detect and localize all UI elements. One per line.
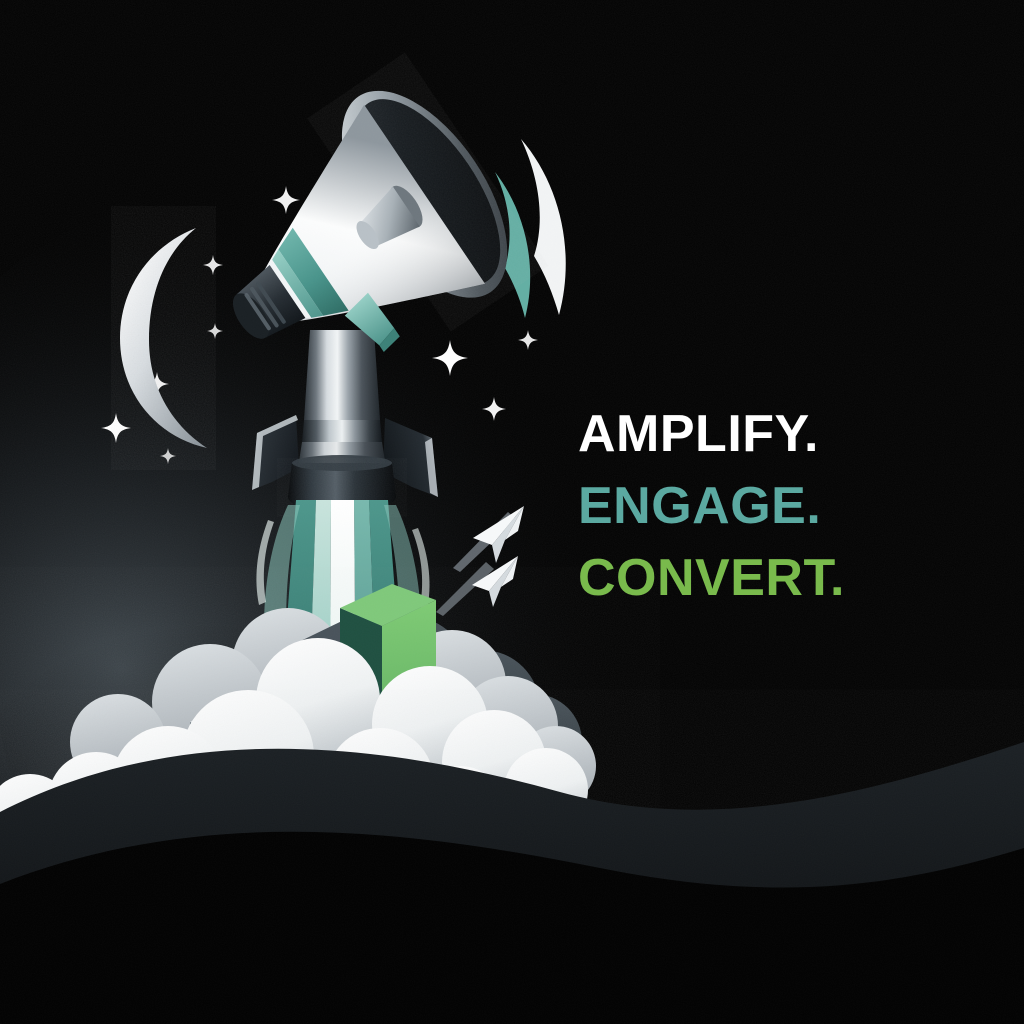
tagline-amplify: AMPLIFY. — [578, 398, 998, 470]
tagline-block: AMPLIFY. ENGAGE. CONVERT. — [578, 398, 998, 614]
tagline-convert: CONVERT. — [578, 542, 998, 614]
poster-canvas: AMPLIFY. ENGAGE. CONVERT. — [0, 0, 1024, 1024]
tagline-engage: ENGAGE. — [578, 470, 998, 542]
